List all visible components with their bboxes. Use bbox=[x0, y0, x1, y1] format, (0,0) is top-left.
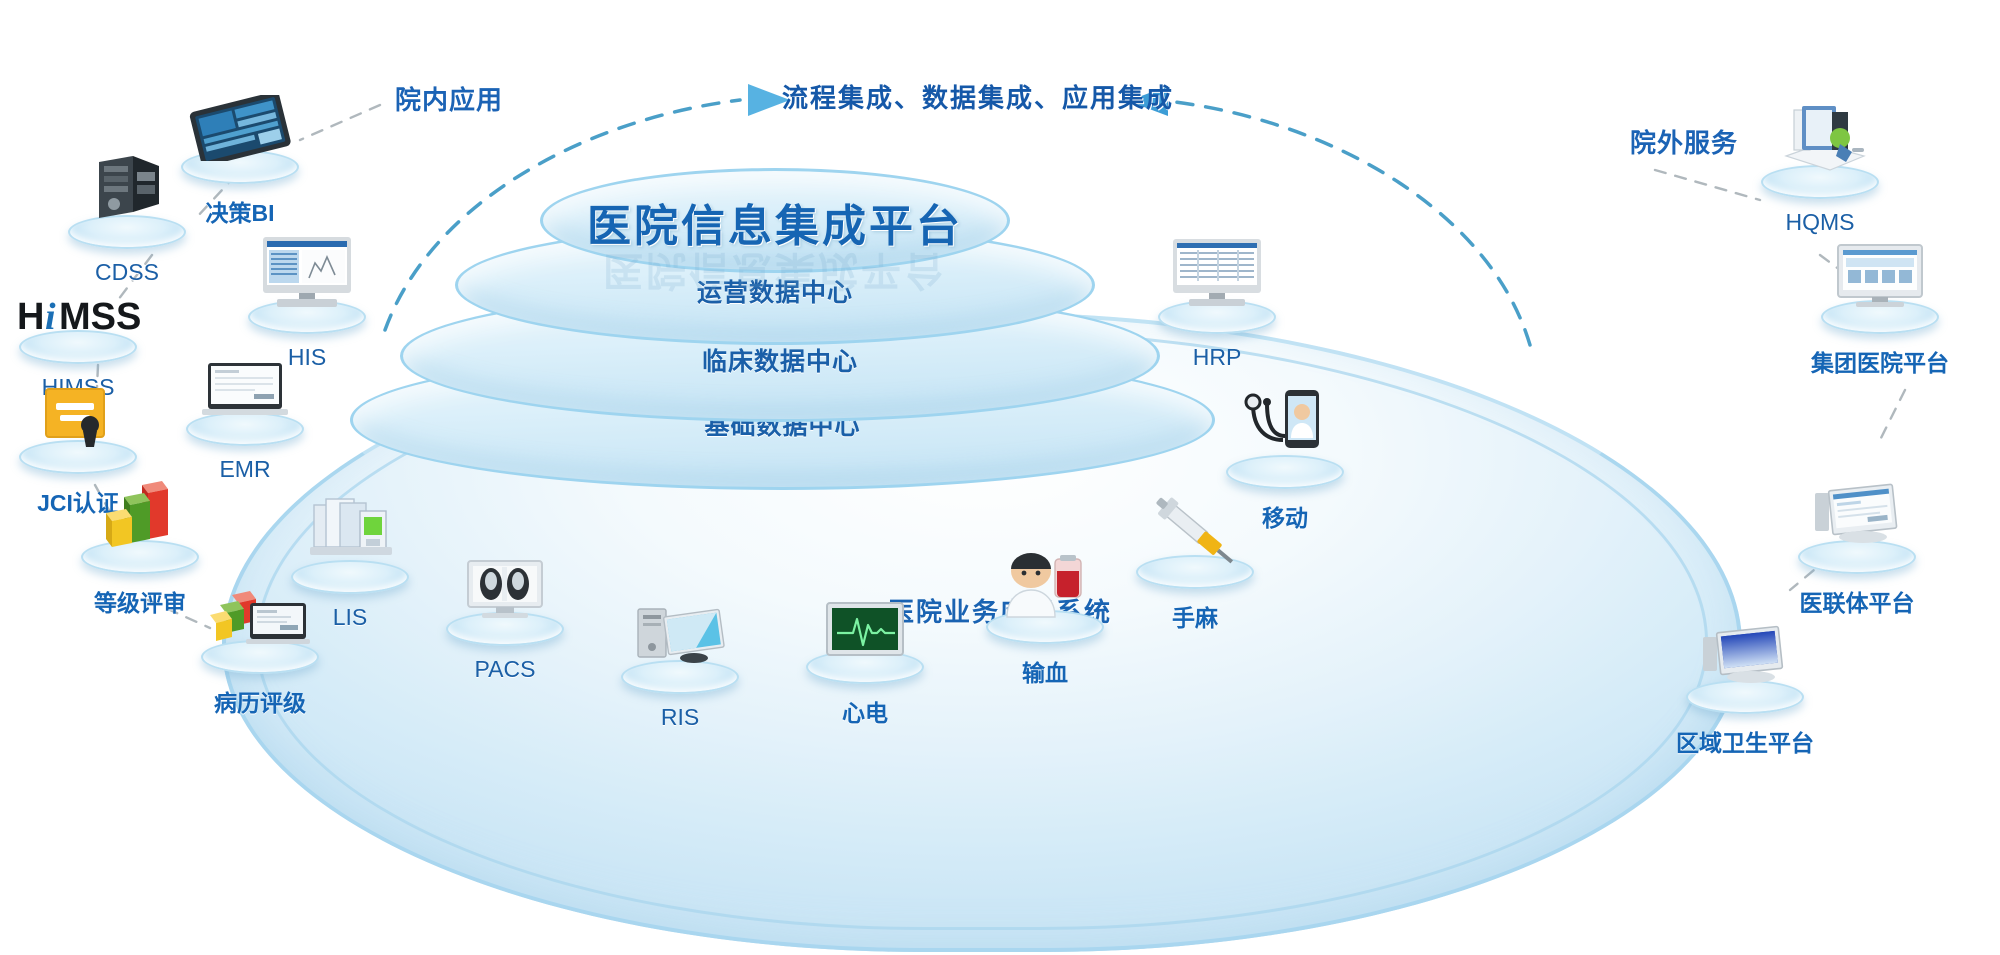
ecg-monitor-icon bbox=[819, 599, 911, 666]
node-label: 心电 bbox=[780, 694, 950, 728]
diagram-canvas: 基础数据中心 临床数据中心 运营数据中心 医院信息集成平台 医院信息集成平台 医… bbox=[0, 0, 2000, 955]
svg-text:H: H bbox=[17, 296, 44, 338]
node-record-rating[interactable]: 病历评级 bbox=[175, 640, 345, 718]
pedestal bbox=[68, 215, 186, 249]
page-title-reflection: 医院信息集成平台 bbox=[440, 245, 1110, 303]
pedestal bbox=[621, 660, 739, 694]
pedestal bbox=[986, 610, 1104, 644]
node-emr[interactable]: EMR bbox=[160, 412, 330, 483]
pedestal bbox=[1158, 300, 1276, 334]
pedestal bbox=[248, 300, 366, 334]
node-grade-review[interactable]: 等级评审 bbox=[55, 540, 225, 618]
node-label: 集团医院平台 bbox=[1795, 344, 1965, 378]
pedestal bbox=[201, 640, 319, 674]
caption-outer-services: 院外服务 bbox=[1630, 123, 1738, 160]
node-label: 等级评审 bbox=[55, 584, 225, 618]
blood-transfusion-icon bbox=[997, 547, 1093, 626]
monitor-network-icon bbox=[1805, 483, 1909, 556]
node-label: CDSS bbox=[42, 259, 212, 286]
node-transfusion[interactable]: 输血 bbox=[960, 610, 1130, 688]
mobile-stethoscope-icon bbox=[1233, 388, 1337, 471]
node-label: PACS bbox=[420, 656, 590, 683]
workstation-tower-icon bbox=[628, 605, 732, 676]
node-label: 医联体平台 bbox=[1772, 584, 1942, 618]
pedestal bbox=[1798, 540, 1916, 574]
lab-analyzer-icon bbox=[296, 497, 404, 576]
node-label: 手麻 bbox=[1110, 599, 1280, 633]
node-label: LIS bbox=[265, 604, 435, 631]
pedestal bbox=[1821, 300, 1939, 334]
monitor-blue-icon bbox=[1693, 625, 1797, 696]
node-ris[interactable]: RIS bbox=[595, 660, 765, 731]
integration-banner-text: 流程集成、数据集成、应用集成 bbox=[782, 78, 1174, 115]
pedestal bbox=[1136, 555, 1254, 589]
pedestal bbox=[19, 440, 137, 474]
node-group-hospital-platform[interactable]: 集团医院平台 bbox=[1795, 300, 1965, 378]
certificate-icon bbox=[36, 385, 120, 456]
desktop-spreadsheet-icon bbox=[1165, 235, 1269, 316]
node-medical-alliance-platform[interactable]: 医联体平台 bbox=[1772, 540, 1942, 618]
pedestal bbox=[1226, 455, 1344, 489]
desktop-monitor-icon bbox=[255, 233, 359, 316]
node-lis[interactable]: LIS bbox=[265, 560, 435, 631]
pedestal bbox=[291, 560, 409, 594]
node-hqms[interactable]: HQMS bbox=[1735, 165, 1905, 236]
pedestal bbox=[186, 412, 304, 446]
himss-logo-icon: H i MSS bbox=[13, 289, 143, 346]
node-regional-health-platform[interactable]: 区域卫生平台 bbox=[1660, 680, 1830, 758]
pedestal bbox=[181, 150, 299, 184]
node-label: 区域卫生平台 bbox=[1660, 724, 1830, 758]
pedestal bbox=[1686, 680, 1804, 714]
svg-text:i: i bbox=[45, 296, 56, 338]
pedestal bbox=[81, 540, 199, 574]
pedestal bbox=[806, 650, 924, 684]
xray-monitor-icon bbox=[458, 557, 552, 628]
node-label: EMR bbox=[160, 456, 330, 483]
bar-chart-blocks-icon bbox=[94, 477, 186, 556]
node-label: 移动 bbox=[1200, 499, 1370, 533]
node-label: HQMS bbox=[1735, 209, 1905, 236]
node-pacs[interactable]: PACS bbox=[420, 612, 590, 683]
node-mobile[interactable]: 移动 bbox=[1200, 455, 1370, 533]
server-rack-icon bbox=[81, 152, 173, 231]
pedestal bbox=[446, 612, 564, 646]
caption-inner-applications: 院内应用 bbox=[395, 80, 503, 117]
node-anesthesia[interactable]: 手麻 bbox=[1110, 555, 1280, 633]
pedestal bbox=[1761, 165, 1879, 199]
monitor-portal-icon bbox=[1830, 241, 1930, 316]
tablet-dashboard-icon bbox=[182, 95, 298, 166]
pedestal: H i MSS bbox=[19, 330, 137, 364]
node-hrp[interactable]: HRP bbox=[1132, 300, 1302, 371]
node-label: 输血 bbox=[960, 654, 1130, 688]
layer-label-clinical: 临床数据中心 bbox=[400, 342, 1160, 378]
document-folder-icon bbox=[1768, 104, 1872, 181]
laptop-document-icon bbox=[196, 359, 294, 428]
node-label: HRP bbox=[1132, 344, 1302, 371]
node-cdss[interactable]: CDSS bbox=[42, 215, 212, 286]
svg-text:MSS: MSS bbox=[59, 296, 141, 338]
node-label: 病历评级 bbox=[175, 684, 345, 718]
node-ecg[interactable]: 心电 bbox=[780, 650, 950, 728]
node-label: RIS bbox=[595, 704, 765, 731]
